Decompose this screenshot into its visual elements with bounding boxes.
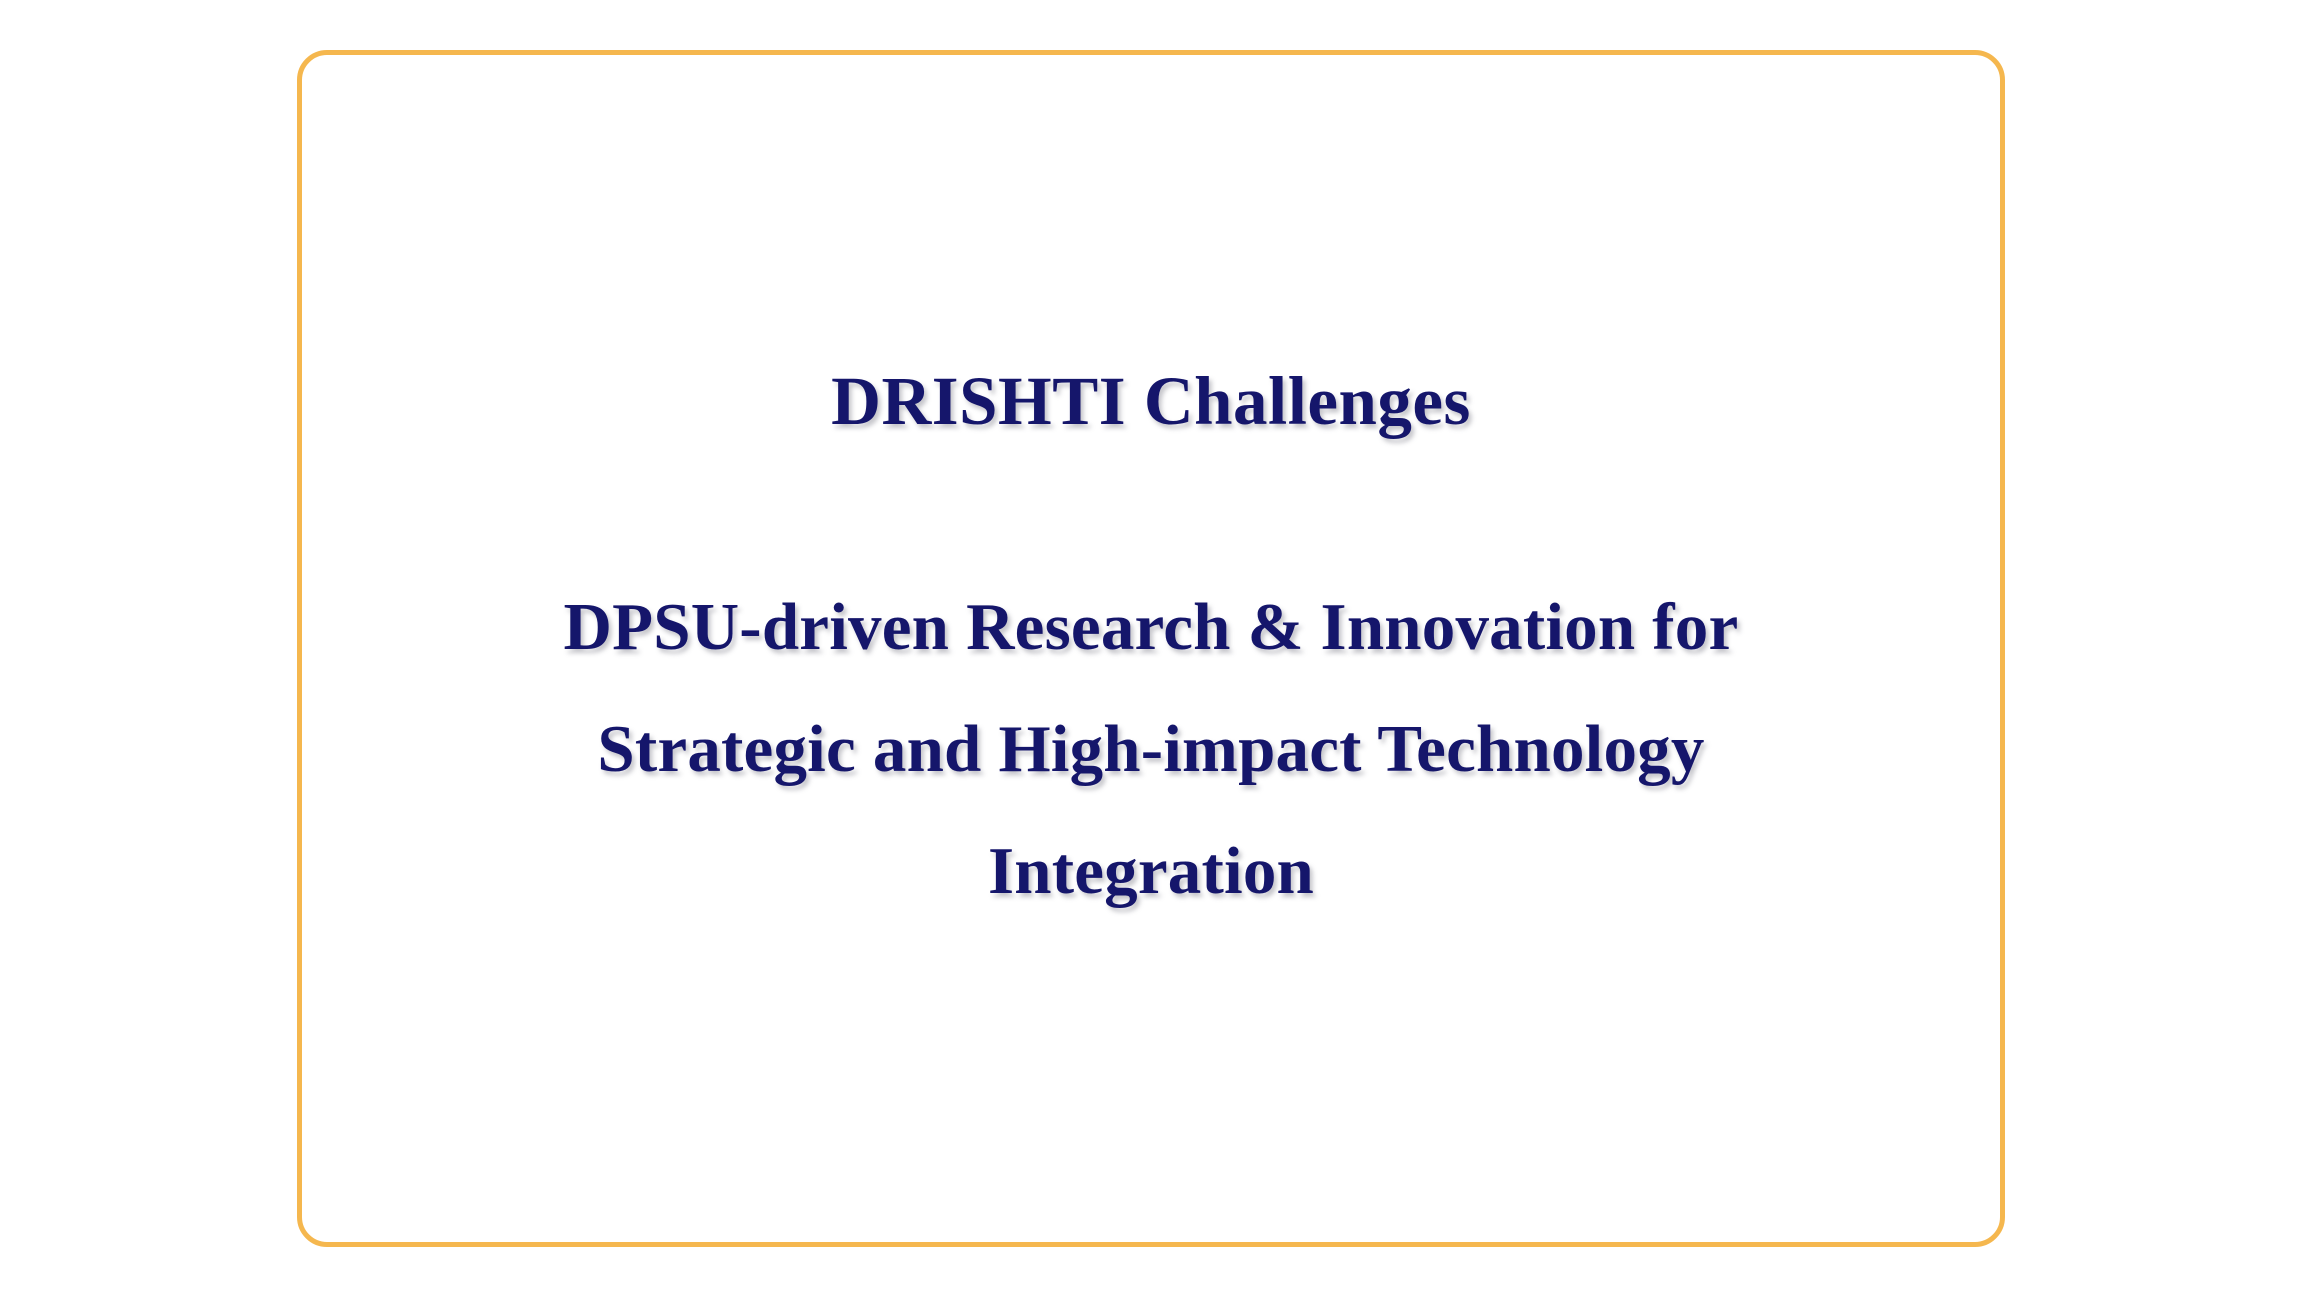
slide-border-frame: DRISHTI Challenges DPSU-driven Research … <box>297 50 2005 1247</box>
slide-subtitle-line-3: Integration <box>988 834 1314 908</box>
slide-subtitle-line-1: DPSU-driven Research & Innovation for <box>564 590 1739 664</box>
slide-title: DRISHTI Challenges <box>831 364 1471 439</box>
slide-subtitle: DPSU-driven Research & Innovation for St… <box>564 567 1739 933</box>
slide-canvas: DRISHTI Challenges DPSU-driven Research … <box>0 0 2304 1296</box>
slide-subtitle-line-2: Strategic and High-impact Technology <box>597 712 1704 786</box>
slide-content-stack: DRISHTI Challenges DPSU-driven Research … <box>302 55 2000 1242</box>
